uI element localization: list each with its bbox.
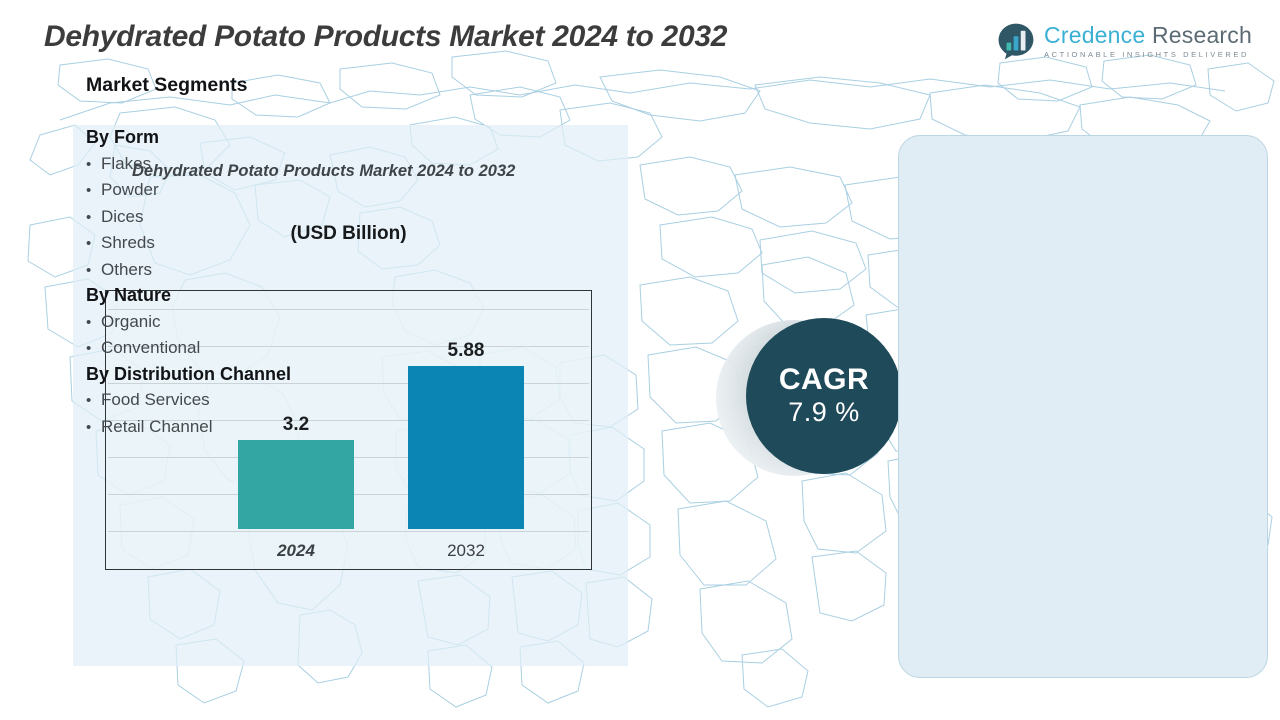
segment-item-label: Retail Channel bbox=[101, 414, 213, 440]
logo-text: Credence Research ACTIONABLE INSIGHTS DE… bbox=[1044, 24, 1252, 59]
bullet-icon: • bbox=[86, 415, 101, 441]
bullet-icon: • bbox=[86, 310, 101, 336]
logo-tagline: ACTIONABLE INSIGHTS DELIVERED bbox=[1044, 51, 1252, 59]
segment-heading-1: By Form bbox=[86, 125, 356, 151]
segment-item-label: Flakes bbox=[101, 151, 151, 177]
segment-item-label: Conventional bbox=[101, 335, 200, 361]
bullet-icon: • bbox=[86, 152, 101, 178]
bar-category-2024: 2024 bbox=[208, 541, 384, 561]
bar-chart-bubble-icon bbox=[997, 22, 1035, 60]
segment-item-label: Others bbox=[101, 257, 152, 283]
segment-item: •Dices bbox=[86, 204, 356, 231]
gridline bbox=[108, 531, 589, 532]
cagr-value: 7.9 % bbox=[788, 396, 860, 430]
market-segments-list: By Form•Flakes•Powder•Dices•Shreds•Other… bbox=[86, 125, 356, 440]
bullet-icon: • bbox=[86, 258, 101, 284]
segment-item: •Flakes bbox=[86, 151, 356, 178]
bullet-icon: • bbox=[86, 205, 101, 231]
page-title: Dehydrated Potato Products Market 2024 t… bbox=[44, 20, 727, 54]
segment-item-label: Dices bbox=[101, 204, 144, 230]
segment-item: •Conventional bbox=[86, 335, 356, 362]
bar-category-2032: 2032 bbox=[378, 541, 554, 561]
logo-wordmark: Credence Research bbox=[1044, 24, 1252, 47]
logo-word-research: Research bbox=[1152, 22, 1252, 48]
bullet-icon: • bbox=[86, 336, 101, 362]
cagr-circle: CAGR 7.9 % bbox=[746, 318, 902, 474]
brand-logo: Credence Research ACTIONABLE INSIGHTS DE… bbox=[997, 22, 1252, 60]
bar-2032 bbox=[408, 366, 524, 529]
segment-heading-3: By Distribution Channel bbox=[86, 362, 356, 388]
segment-item-label: Shreds bbox=[101, 230, 155, 256]
segment-item-label: Organic bbox=[101, 309, 161, 335]
segment-item: •Others bbox=[86, 257, 356, 284]
bar-value-2032: 5.88 bbox=[378, 340, 554, 362]
infographic-canvas: Dehydrated Potato Products Market 2024 t… bbox=[0, 0, 1280, 720]
bullet-icon: • bbox=[86, 388, 101, 414]
market-segments-title: Market Segments bbox=[86, 74, 247, 97]
bullet-icon: • bbox=[86, 231, 101, 257]
segment-item: •Retail Channel bbox=[86, 414, 356, 441]
cagr-badge: CAGR 7.9 % bbox=[716, 318, 906, 478]
market-segments-panel bbox=[898, 135, 1268, 678]
segment-item: •Organic bbox=[86, 309, 356, 336]
cagr-label: CAGR bbox=[779, 363, 869, 396]
segment-item: •Shreds bbox=[86, 230, 356, 257]
segment-item-label: Powder bbox=[101, 177, 159, 203]
logo-word-credence: Credence bbox=[1044, 22, 1145, 48]
segment-heading-2: By Nature bbox=[86, 283, 356, 309]
bullet-icon: • bbox=[86, 178, 101, 204]
segment-item-label: Food Services bbox=[101, 387, 210, 413]
segment-item: •Powder bbox=[86, 177, 356, 204]
bar-2024 bbox=[238, 440, 354, 529]
segment-item: •Food Services bbox=[86, 387, 356, 414]
